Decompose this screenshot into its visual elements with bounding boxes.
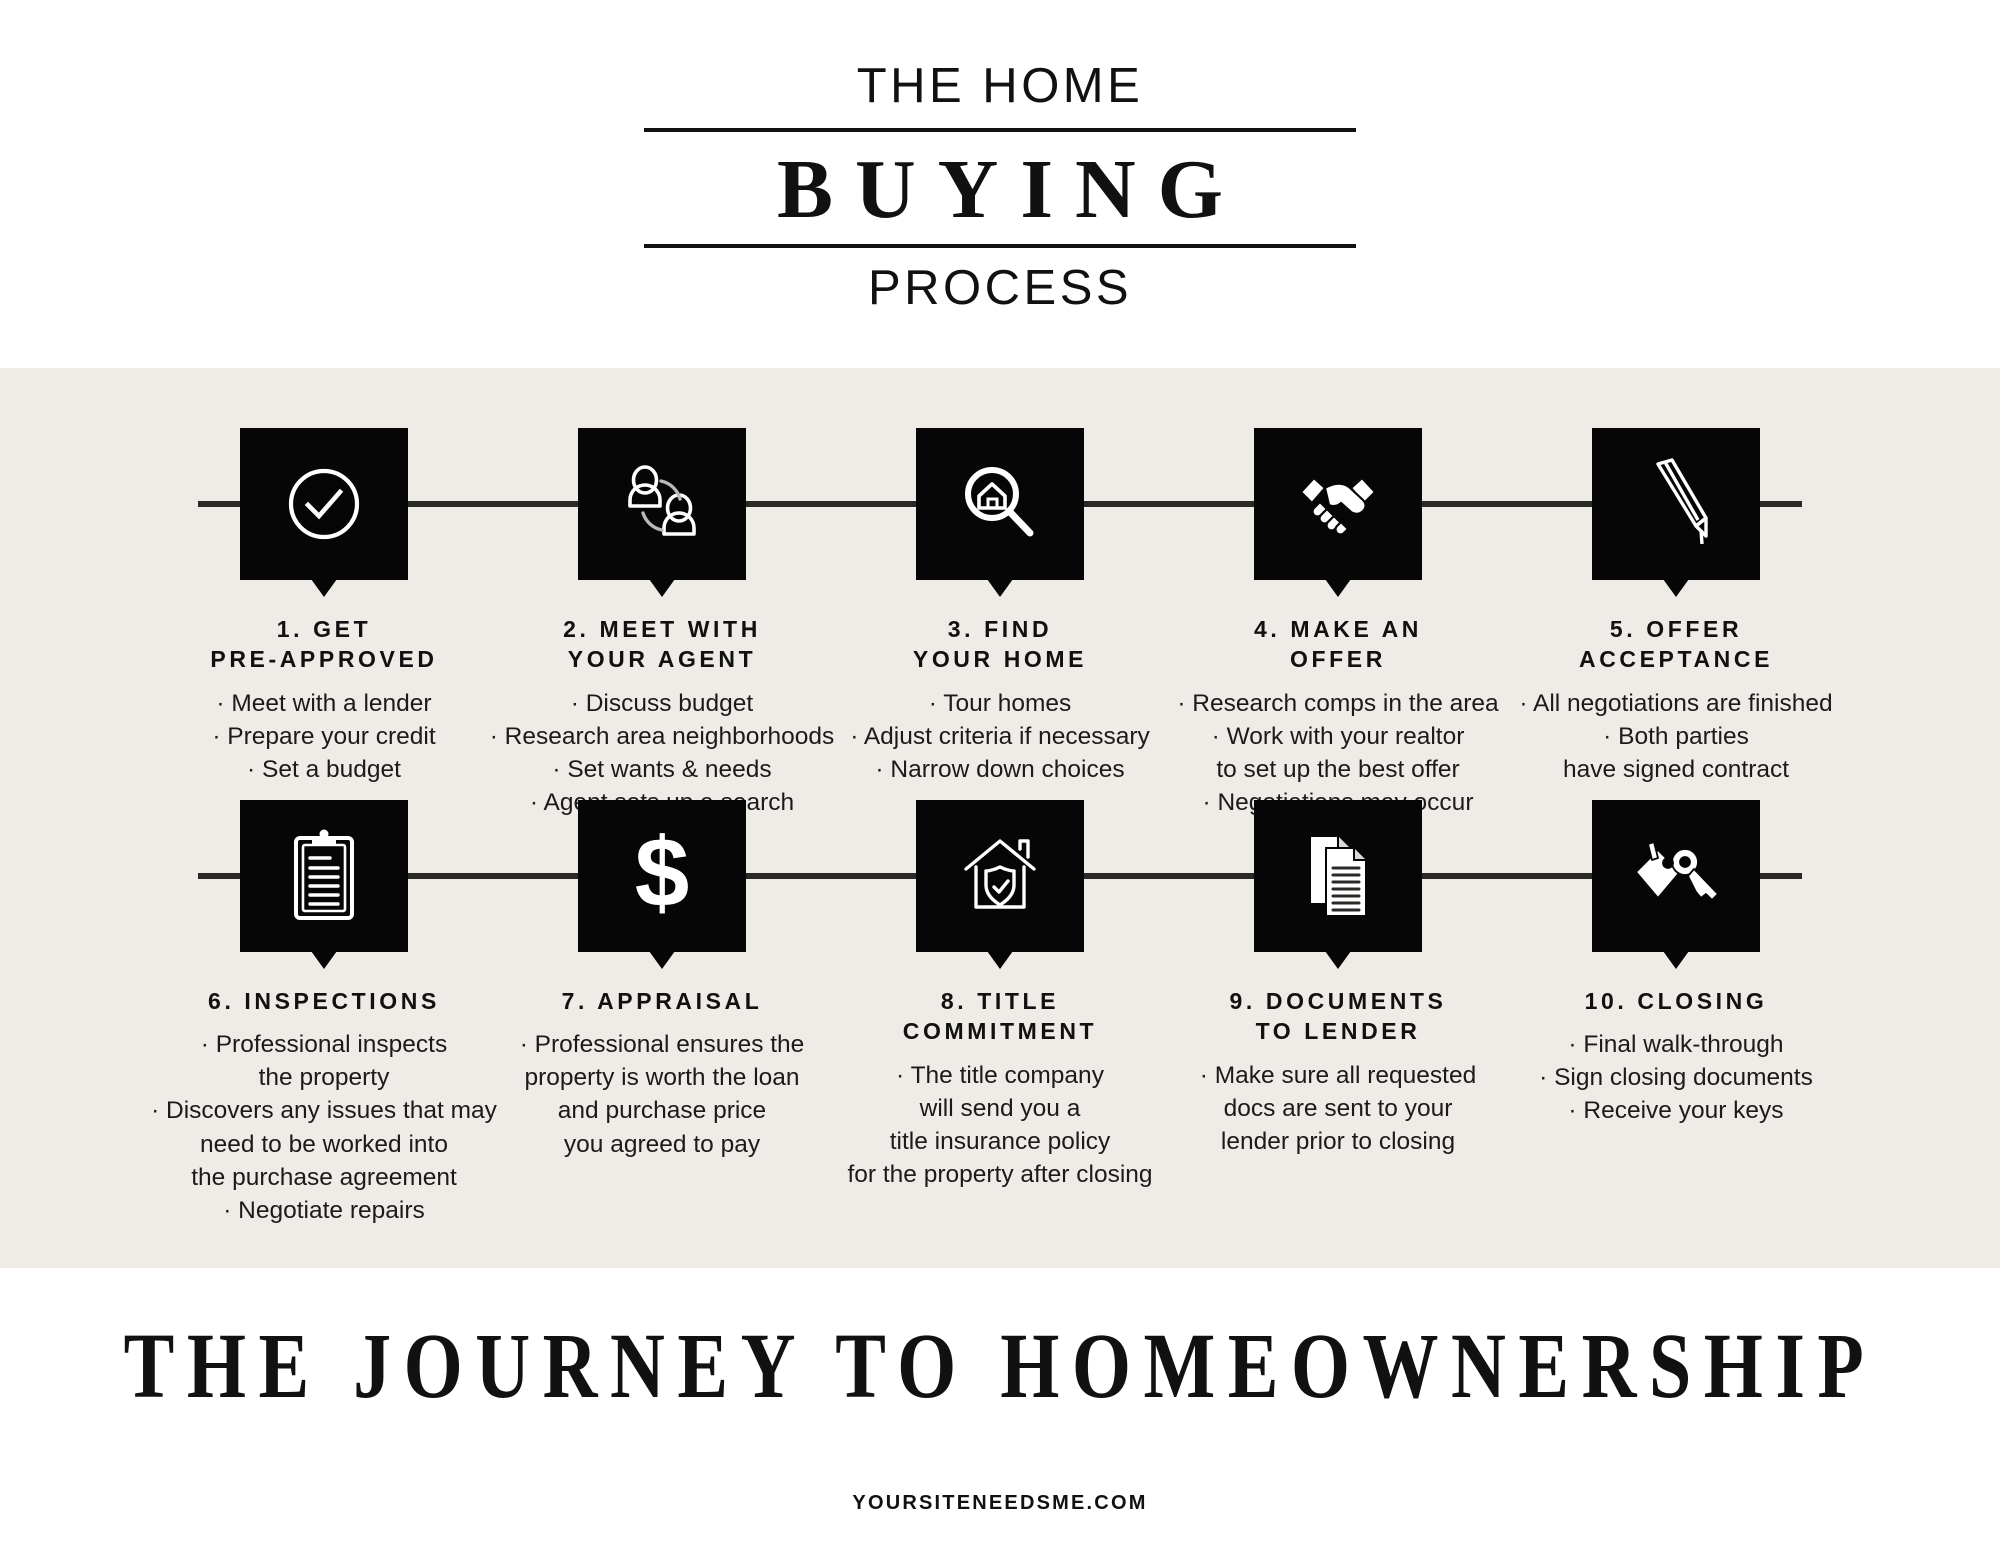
step-6-items: · Professional inspects the property · D… — [128, 1028, 520, 1226]
step-10-items: · Final walk-through · Sign closing docu… — [1496, 1028, 1856, 1127]
step-4-title: 4. MAKE AN OFFER — [1254, 614, 1422, 675]
footer-headline: THE JOURNEY TO HOMEOWNERSHIP — [124, 1320, 1877, 1413]
step-5-title: 5. OFFER ACCEPTANCE — [1579, 614, 1773, 675]
documents-icon — [1296, 828, 1380, 924]
step-9-items: · Make sure all requested docs are sent … — [1158, 1059, 1518, 1158]
svg-text:$: $ — [635, 826, 690, 926]
dollar-sign-icon: $ — [627, 826, 697, 926]
step-group-row-2: 6. INSPECTIONS · Professional inspects t… — [0, 800, 2000, 1227]
step-3-items: · Tour homes · Adjust criteria if necess… — [820, 687, 1180, 786]
title-line-main: BUYING — [755, 132, 1245, 244]
keys-icon — [1628, 836, 1724, 916]
step-7-title: 7. APPRAISAL — [562, 986, 763, 1016]
step-8[interactable]: 8. TITLE COMMITMENT · The title company … — [844, 800, 1156, 1227]
two-people-exchange-icon — [619, 461, 705, 547]
house-shield-check-icon — [956, 831, 1044, 921]
step-7-icon-box: $ — [578, 800, 746, 952]
step-10-title: 10. CLOSING — [1585, 986, 1768, 1016]
step-6-icon-box — [240, 800, 408, 952]
clipboard-icon — [288, 828, 360, 924]
step-3-icon-box — [916, 428, 1084, 580]
step-1-items: · Meet with a lender · Prepare your cred… — [212, 687, 435, 786]
title-line-top: THE HOME — [857, 62, 1144, 111]
footer-url: YOURSITENEEDSME.COM — [852, 1492, 1147, 1515]
house-magnifier-icon — [956, 460, 1044, 548]
step-8-items: · The title company will send you a titl… — [804, 1059, 1196, 1191]
check-circle-icon — [282, 462, 366, 546]
step-8-title: 8. TITLE COMMITMENT — [903, 986, 1097, 1047]
step-5-icon-box — [1592, 428, 1760, 580]
step-6-title: 6. INSPECTIONS — [208, 986, 440, 1016]
title-block: THE HOME BUYING PROCESS — [0, 0, 2000, 365]
step-1[interactable]: 1. GET PRE-APPROVED · Meet with a lender… — [168, 428, 480, 819]
footer: THE JOURNEY TO HOMEOWNERSHIP YOURSITENEE… — [0, 1268, 2000, 1545]
step-2-title: 2. MEET WITH YOUR AGENT — [563, 614, 761, 675]
step-10[interactable]: 10. CLOSING · Final walk-through · Sign … — [1520, 800, 1832, 1227]
step-7-items: · Professional ensures the property is w… — [482, 1028, 842, 1160]
step-5[interactable]: 5. OFFER ACCEPTANCE · All negotiations a… — [1520, 428, 1832, 819]
title-rule-bottom — [644, 244, 1356, 248]
step-5-items: · All negotiations are finished · Both p… — [1496, 687, 1856, 786]
step-10-icon-box — [1592, 800, 1760, 952]
step-2[interactable]: 2. MEET WITH YOUR AGENT · Discuss budget… — [506, 428, 818, 819]
step-1-icon-box — [240, 428, 408, 580]
step-4-icon-box — [1254, 428, 1422, 580]
step-8-icon-box — [916, 800, 1084, 952]
step-9-title: 9. DOCUMENTS TO LENDER — [1230, 986, 1447, 1047]
step-1-title: 1. GET PRE-APPROVED — [210, 614, 437, 675]
title-line-bottom: PROCESS — [868, 264, 1132, 313]
step-2-icon-box — [578, 428, 746, 580]
process-band: 1. GET PRE-APPROVED · Meet with a lender… — [0, 368, 2000, 1268]
step-7[interactable]: $ 7. APPRAISAL · Professional ensures th… — [506, 800, 818, 1227]
infographic-page: THE HOME BUYING PROCESS — [0, 0, 2000, 1545]
step-9[interactable]: 9. DOCUMENTS TO LENDER · Make sure all r… — [1182, 800, 1494, 1227]
step-3[interactable]: 3. FIND YOUR HOME · Tour homes · Adjust … — [844, 428, 1156, 819]
handshake-icon — [1292, 464, 1384, 544]
pen-icon — [1632, 456, 1720, 552]
step-4[interactable]: 4. MAKE AN OFFER · Research comps in the… — [1182, 428, 1494, 819]
step-3-title: 3. FIND YOUR HOME — [913, 614, 1087, 675]
step-9-icon-box — [1254, 800, 1422, 952]
step-group-row-1: 1. GET PRE-APPROVED · Meet with a lender… — [0, 428, 2000, 819]
step-6[interactable]: 6. INSPECTIONS · Professional inspects t… — [168, 800, 480, 1227]
